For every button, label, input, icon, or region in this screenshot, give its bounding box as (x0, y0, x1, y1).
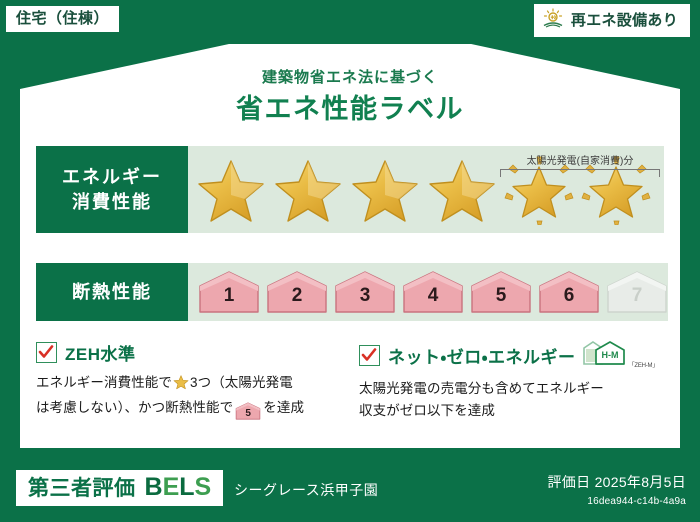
net-zero-desc-line2: 収支がゼロ以下を達成 (359, 403, 495, 418)
star-rating: 太陽光発電(自家消費)分 (188, 153, 664, 227)
star-filled-1 (194, 153, 268, 227)
insulation-level-6: 6 (538, 270, 600, 314)
zeh-desc-part1: エネルギー消費性能で (36, 375, 172, 390)
inline-chip-value: 5 (235, 402, 261, 426)
bels-letter-b: B (145, 473, 163, 501)
criterion-zeh-description: エネルギー消費性能で3つ（太陽光発電は考慮しない）、かつ断熱性能で5を達成 (36, 372, 341, 420)
criterion-zeh-title: ZEH水準 (65, 340, 136, 365)
house-type-tag: 住宅（住棟） (6, 6, 119, 32)
insulation-level-3-num: 3 (360, 286, 371, 314)
star-filled-4 (425, 153, 499, 227)
svg-text:H-M: H-M (601, 350, 618, 360)
bels-certification-box: 第三者評価 BELS (16, 470, 223, 506)
zeh-m-house-icon: H-M (582, 340, 628, 371)
insulation-level-1-num: 1 (224, 286, 235, 314)
bels-letter-e: E (163, 473, 180, 501)
insulation-level-4: 4 (402, 270, 464, 314)
criterion-net-zero-description: 太陽光発電の売電分も含めてエネルギー収支がゼロ以下を達成 (359, 378, 664, 422)
criterion-net-zero-head: ネット・ゼロ・エネルギー H-M 「ZEH-M」 (359, 340, 664, 371)
criterion-zeh-head: ZEH水準 (36, 340, 341, 365)
zeh-desc-part3: を達成 (263, 400, 304, 415)
energy-label-line2: 消費性能 (72, 190, 152, 214)
inline-insulation-chip: 5 (235, 402, 261, 420)
bels-letter-s: S (195, 473, 212, 501)
label-subtitle: 建築物省エネ法に基づく (20, 66, 680, 87)
insulation-level-4-num: 4 (428, 286, 439, 314)
star-filled-3 (348, 153, 422, 227)
evaluation-date: 評価日 2025年8月5日 (547, 472, 686, 492)
star-solar-6 (579, 153, 653, 227)
energy-label-line1: エネルギー (62, 165, 162, 189)
insulation-level-6-num: 6 (564, 286, 575, 314)
criteria-section: ZEH水準 エネルギー消費性能で3つ（太陽光発電は考慮しない）、かつ断熱性能で5… (36, 340, 664, 422)
energy-performance-row: エネルギー 消費性能 (36, 146, 664, 233)
insulation-level-5: 5 (470, 270, 532, 314)
insulation-level-7-num: 7 (632, 286, 643, 314)
renewable-equipment-badge: 再エネ設備あり (534, 4, 690, 37)
insulation-level-scale: 1 2 3 (188, 270, 668, 314)
label-title: 省エネ性能ラベル (20, 87, 680, 126)
evaluation-id: 16dea944-c14b-4a9a (547, 496, 686, 507)
energy-row-body: 太陽光発電(自家消費)分 (188, 146, 664, 233)
net-zero-desc-line1: 太陽光発電の売電分も含めてエネルギー (359, 381, 604, 396)
checkbox-checked-icon (36, 342, 57, 363)
zeh-desc-stars: 3つ（太陽光発電 (190, 375, 293, 390)
insulation-performance-row: 断熱性能 1 2 (36, 263, 664, 321)
insulation-level-1: 1 (198, 270, 260, 314)
star-filled-2 (271, 153, 345, 227)
bels-logo: BELS (145, 475, 212, 500)
insulation-level-3: 3 (334, 270, 396, 314)
inline-star-icon (173, 378, 189, 393)
insulation-row-label: 断熱性能 (36, 263, 188, 321)
label-content: 建築物省エネ法に基づく 省エネ性能ラベル エネルギー 消費性能 (20, 18, 680, 448)
renewable-badge-label: 再エネ設備あり (571, 13, 678, 28)
insulation-level-7: 7 (606, 270, 668, 314)
criterion-net-zero-title: ネット・ゼロ・エネルギー (388, 343, 576, 368)
label-footer: 第三者評価 BELS シーグレース浜甲子園 評価日 2025年8月5日 16de… (0, 460, 700, 522)
sun-icon (542, 8, 564, 33)
energy-performance-label: 住宅（住棟） 再エネ設備あり 建築物省エネ法に基づく 省エネ性能ラベル (0, 0, 700, 522)
criterion-zeh: ZEH水準 エネルギー消費性能で3つ（太陽光発電は考慮しない）、かつ断熱性能で5… (36, 340, 341, 422)
zeh-m-caption: 「ZEH-M」 (629, 360, 659, 371)
bels-letter-l: L (179, 473, 194, 501)
zeh-desc-part2: は考慮しない）、かつ断熱性能で (36, 400, 233, 415)
zeh-m-logo: H-M 「ZEH-M」 (582, 340, 659, 371)
insulation-level-5-num: 5 (496, 286, 507, 314)
insulation-level-2-num: 2 (292, 286, 303, 314)
checkbox-checked-icon (359, 345, 380, 366)
third-party-evaluation-label: 第三者評価 (28, 478, 136, 499)
star-solar-5 (502, 153, 576, 227)
insulation-row-body: 1 2 3 (188, 263, 668, 321)
insulation-level-2: 2 (266, 270, 328, 314)
property-name: シーグレース浜甲子園 (234, 480, 378, 500)
evaluation-metadata: 評価日 2025年8月5日 16dea944-c14b-4a9a (547, 472, 686, 507)
criterion-net-zero: ネット・ゼロ・エネルギー H-M 「ZEH-M」 太 (359, 340, 664, 422)
energy-row-label: エネルギー 消費性能 (36, 146, 188, 233)
